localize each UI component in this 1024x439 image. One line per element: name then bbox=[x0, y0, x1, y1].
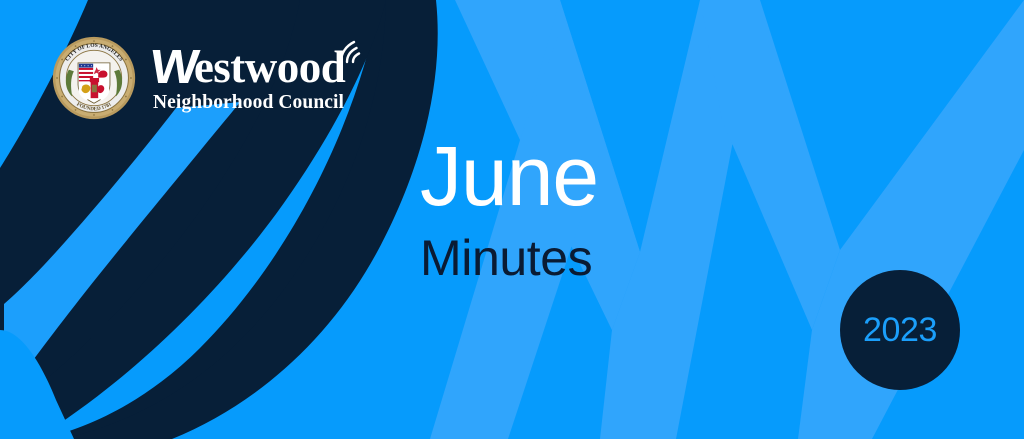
wordmark: Westwood Neighborhood Council bbox=[150, 43, 345, 114]
wifi-signal-icon bbox=[337, 35, 369, 65]
westwood-council-banner: CITY OF LOS ANGELES FOUNDED 1781 Westwoo… bbox=[0, 0, 1024, 439]
year-badge-label: 2023 bbox=[863, 313, 937, 347]
wordmark-rest: estwood bbox=[194, 42, 346, 92]
page-title-month: June bbox=[420, 138, 598, 215]
logo-lockup: CITY OF LOS ANGELES FOUNDED 1781 Westwoo… bbox=[52, 36, 345, 120]
city-of-los-angeles-seal-icon: CITY OF LOS ANGELES FOUNDED 1781 bbox=[52, 36, 136, 120]
stylized-w-glyph: W bbox=[148, 45, 200, 91]
headline-block: June Minutes bbox=[420, 138, 598, 283]
year-badge: 2023 bbox=[840, 270, 960, 390]
wordmark-subtitle: Neighborhood Council bbox=[150, 92, 345, 113]
page-subtitle-doctype: Minutes bbox=[420, 233, 598, 283]
wordmark-westwood: Westwood bbox=[150, 45, 345, 91]
